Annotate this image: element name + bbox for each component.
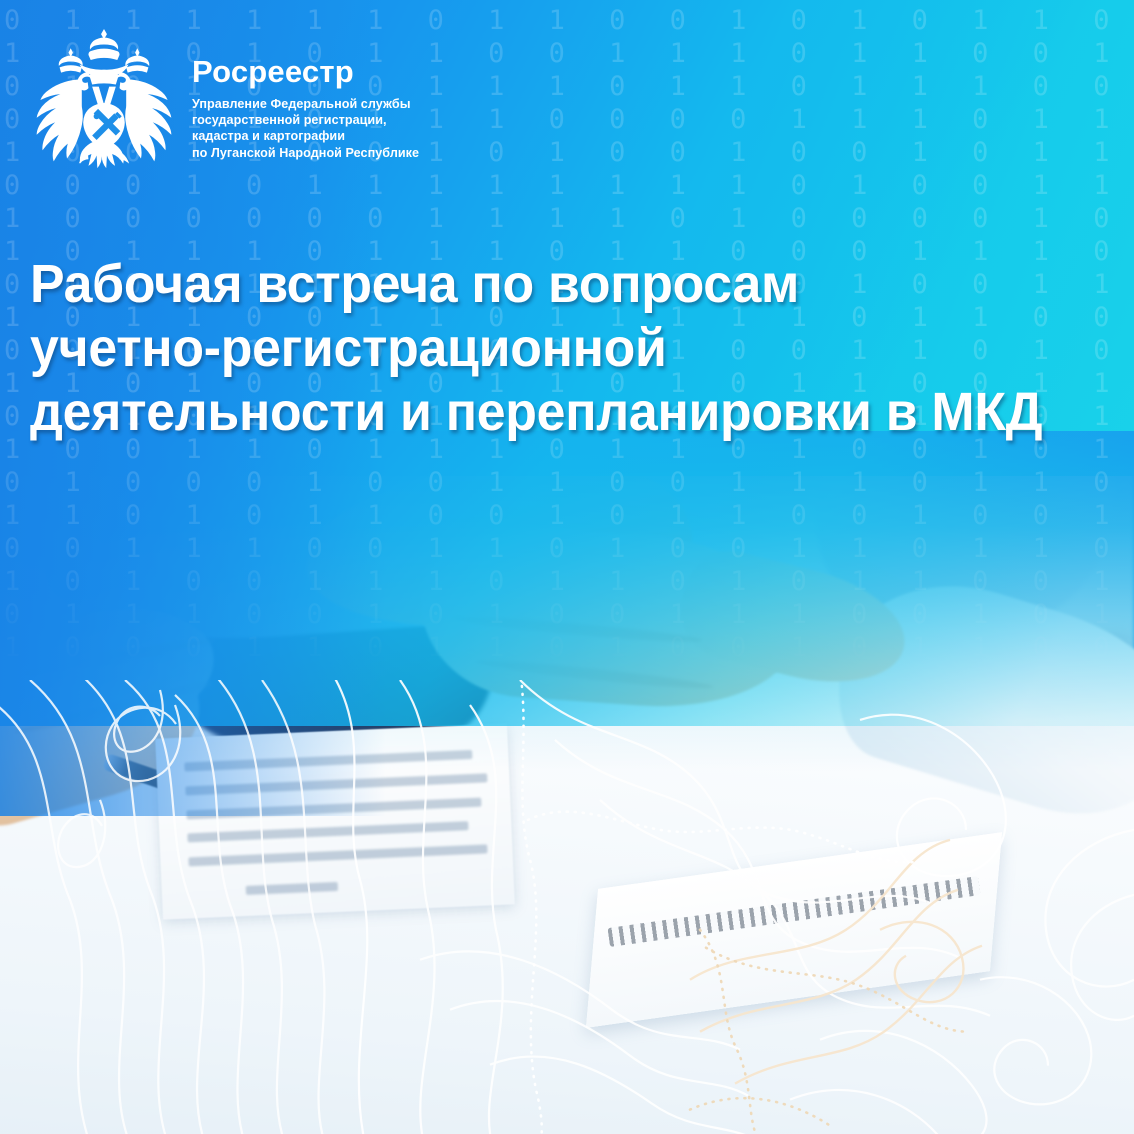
page-title: Рабочая встреча по вопросам учетно-регис… <box>30 252 1120 444</box>
page-title-line-2: учетно-регистрационной <box>30 316 1076 380</box>
brand-name: Росреестр <box>192 56 419 87</box>
page-title-line-3: деятельности и перепланировки в МКД <box>30 380 1076 444</box>
brand-subtitle-line-2: государственной регистрации, <box>192 112 419 128</box>
brand-subtitle-line-3: кадастра и картографии <box>192 128 419 144</box>
brand-subtitle-line-1: Управление Федеральной службы <box>192 96 419 112</box>
brand-subtitle: Управление Федеральной службы государств… <box>192 96 419 161</box>
topographic-contour-overlay <box>0 680 1134 1134</box>
rosreestr-double-headed-eagle-icon <box>30 26 178 176</box>
brand-subtitle-line-4: по Луганской Народной Республике <box>192 145 419 161</box>
rosreestr-announcement-poster: 0 1 1 1 1 1 1 0 1 1 0 0 1 0 1 0 1 1 0 1 … <box>0 0 1134 1134</box>
brand-header: Росреестр Управление Федеральной службы … <box>30 24 419 176</box>
brand-text-block: Росреестр Управление Федеральной службы … <box>192 24 419 161</box>
page-title-line-1: Рабочая встреча по вопросам <box>30 252 1076 316</box>
